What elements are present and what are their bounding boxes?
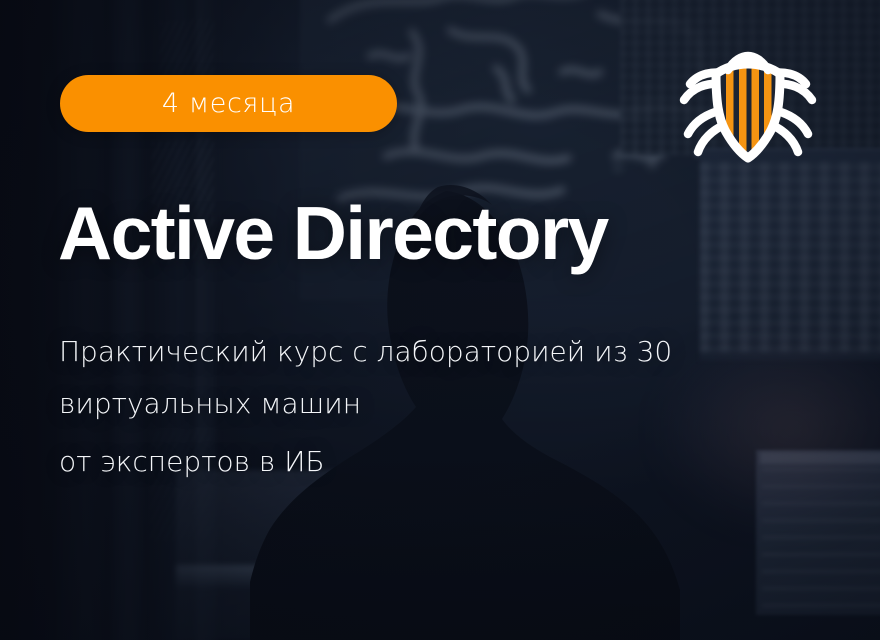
course-description: Практический курс с лабораторией из 30 в… bbox=[59, 326, 799, 488]
banner-content: 4 месяца Active Directory Практический к… bbox=[0, 0, 880, 640]
beetle-shield-logo-icon bbox=[672, 48, 824, 168]
duration-badge[interactable]: 4 месяца bbox=[60, 75, 397, 132]
description-line-1: Практический курс с лабораторией из 30 bbox=[59, 326, 799, 378]
duration-badge-label: 4 месяца bbox=[162, 90, 295, 117]
description-line-3: от экспертов в ИБ bbox=[59, 436, 799, 488]
course-promo-banner: 4 месяца Active Directory Практический к… bbox=[0, 0, 880, 640]
page-title: Active Directory bbox=[58, 196, 608, 271]
description-line-2: виртуальных машин bbox=[59, 378, 799, 430]
